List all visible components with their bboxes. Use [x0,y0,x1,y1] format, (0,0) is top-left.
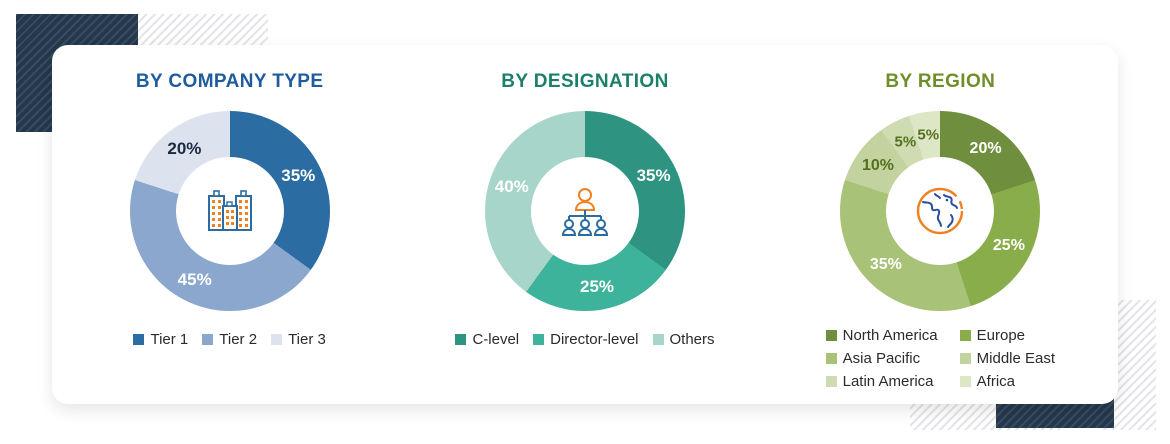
legend-swatch-icon [826,330,837,341]
legend-item[interactable]: North America [826,327,938,344]
legend-swatch-icon [960,330,971,341]
legend-item[interactable]: Others [653,331,715,348]
legend-item[interactable]: Africa [960,373,1055,390]
legend-item[interactable]: Tier 3 [271,331,326,348]
legend-item[interactable]: Tier 1 [133,331,188,348]
legend-label: Others [670,331,715,348]
donut-center-company-type [176,157,284,265]
slice-label-europe: 25% [993,237,1025,255]
donut-chart-designation: 35% 25% 40% [485,111,685,311]
legend-item[interactable]: Latin America [826,373,938,390]
legend-label: North America [843,327,938,344]
legend-swatch-icon [271,334,282,345]
slice-label-director-level: 25% [580,277,614,297]
legend-label: C-level [472,331,519,348]
legend-item[interactable]: Tier 2 [202,331,257,348]
legend-swatch-icon [826,376,837,387]
chart-panel-region: BY REGION 20% 25% 35% 10% 5% [763,45,1118,404]
legend-company-type: Tier 1Tier 2Tier 3 [133,331,325,348]
legend-swatch-icon [653,334,664,345]
legend-label: Middle East [977,350,1055,367]
chart-panel-designation: BY DESIGNATION [407,45,762,404]
slice-label-tier-3: 20% [167,139,201,159]
donut-center-designation [531,157,639,265]
legend-swatch-icon [960,353,971,364]
office-buildings-icon [201,182,259,240]
donut-center-region [886,157,994,265]
slice-label-middle-east: 10% [862,157,894,175]
legend-swatch-icon [960,376,971,387]
legend-label: Director-level [550,331,638,348]
infographic-card: BY COMPANY TYPE [52,45,1118,404]
legend-designation: C-levelDirector-levelOthers [455,331,714,348]
legend-label: Latin America [843,373,934,390]
legend-item[interactable]: Asia Pacific [826,350,938,367]
legend-region: North AmericaEuropeAsia PacificMiddle Ea… [826,327,1055,390]
legend-swatch-icon [133,334,144,345]
donut-chart-region: 20% 25% 35% 10% 5% 5% [840,111,1040,311]
legend-label: Tier 2 [219,331,257,348]
legend-label: Europe [977,327,1025,344]
chart-title-company-type: BY COMPANY TYPE [136,71,324,93]
legend-swatch-icon [202,334,213,345]
legend-label: Africa [977,373,1015,390]
legend-swatch-icon [455,334,466,345]
slice-label-latin-america: 5% [895,134,917,151]
chart-panel-company-type: BY COMPANY TYPE [52,45,407,404]
slice-label-others: 40% [495,177,529,197]
donut-chart-company-type: 35% 45% 20% [130,111,330,311]
legend-item[interactable]: Middle East [960,350,1055,367]
legend-item[interactable]: Europe [960,327,1055,344]
chart-title-region: BY REGION [885,71,995,93]
globe-icon [911,182,969,240]
slice-label-tier-2: 45% [178,270,212,290]
slice-label-north-america: 20% [970,140,1002,158]
slice-label-africa: 5% [917,126,939,143]
org-hierarchy-icon [556,182,614,240]
slice-label-tier-1: 35% [281,166,315,186]
legend-swatch-icon [826,353,837,364]
legend-item[interactable]: C-level [455,331,519,348]
slice-label-c-level: 35% [637,166,671,186]
legend-label: Tier 3 [288,331,326,348]
legend-label: Tier 1 [150,331,188,348]
legend-label: Asia Pacific [843,350,921,367]
slice-label-asia-pacific: 35% [870,256,902,274]
legend-swatch-icon [533,334,544,345]
chart-title-designation: BY DESIGNATION [501,71,668,93]
legend-item[interactable]: Director-level [533,331,638,348]
